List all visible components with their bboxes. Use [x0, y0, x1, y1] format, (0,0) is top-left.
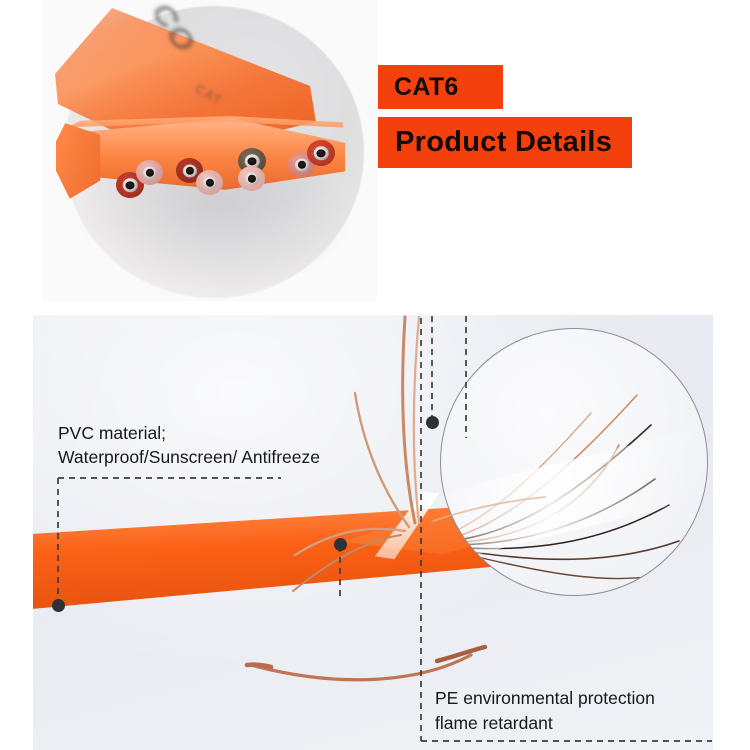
conductor-4: [196, 170, 223, 195]
magnifier-circle: [440, 328, 708, 596]
cable-cross-section-photo: CO CAT: [42, 0, 377, 301]
banner-product-details: Product Details: [378, 117, 632, 168]
annotation-pvc-line2: Waterproof/Sunscreen/ Antifreeze: [58, 446, 320, 470]
annotation-pe-line1: PE environmental protection: [435, 686, 655, 711]
cable-structure-photo: [33, 315, 713, 750]
annotation-pe-line2: flame retardant: [435, 711, 655, 736]
flat-cable-closeup: CO CAT: [42, 0, 377, 301]
product-detail-image: CO CAT CAT6: [0, 0, 750, 750]
annotation-pvc: PVC material; Waterproof/Sunscreen/ Anti…: [58, 422, 320, 469]
leader-dot-pvc: [52, 599, 65, 612]
annotation-pe: PE environmental protection flame retard…: [435, 686, 655, 737]
leader-dot-split: [334, 538, 347, 551]
banner-cat6: CAT6: [378, 65, 503, 109]
leader-dot-strand: [426, 416, 439, 429]
conductor-8: [307, 140, 335, 166]
conductor-6: [238, 166, 265, 191]
conductor-2: [136, 160, 163, 185]
annotation-pvc-line1: PVC material;: [58, 422, 320, 446]
